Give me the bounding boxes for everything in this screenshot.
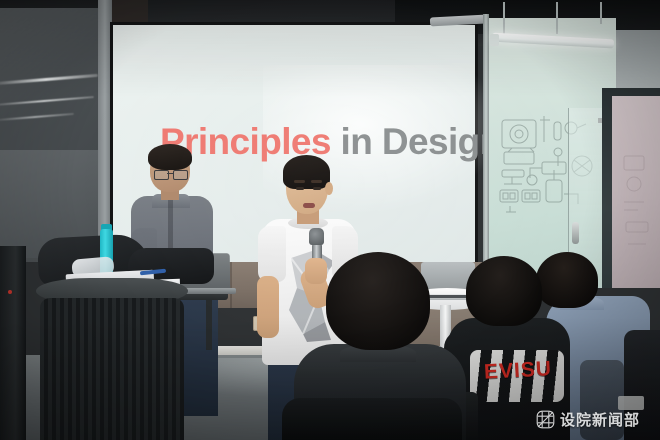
podium-leg <box>206 300 212 350</box>
microphone-head <box>309 228 324 245</box>
tube-light-end-cap <box>490 34 499 46</box>
presenter-eye <box>313 187 321 190</box>
presenter-sleeve <box>258 226 286 282</box>
left-table-body <box>40 298 184 440</box>
presenter-mouth <box>303 203 315 208</box>
chair-label-tag <box>618 396 644 410</box>
chair <box>282 398 462 440</box>
slide-title: Principles in Design <box>160 121 502 163</box>
slide-title-secondary: in Design <box>331 121 502 162</box>
power-led-icon <box>8 290 12 294</box>
presenter-hair <box>283 155 330 189</box>
presenter-eyebrow <box>294 180 305 183</box>
light-hanger-rod <box>556 2 558 34</box>
glass-wall-edge <box>483 14 489 290</box>
door-poster-sketch <box>620 150 660 260</box>
door-handle[interactable] <box>572 222 579 244</box>
presenter-ear <box>325 182 333 195</box>
watermark-text: 设院新闻部 <box>560 409 640 430</box>
audience-foreground-head <box>326 252 430 350</box>
light-hanger-rod <box>600 2 602 24</box>
presenter-eyebrow <box>311 180 322 183</box>
light-hanger-rod <box>503 2 505 36</box>
audience-evisu-head <box>466 256 542 326</box>
eyeglasses-icon <box>154 170 186 178</box>
jacket-brand-text: EVISU <box>471 356 564 387</box>
equipment-rack <box>0 246 26 440</box>
watermark: 设院新闻部 <box>536 409 640 430</box>
audience-blue-shirt-head <box>536 252 598 308</box>
presenter-eye <box>296 187 304 190</box>
presenter-arm <box>257 276 279 338</box>
wall-panel-seam <box>230 262 232 308</box>
instructor-hair <box>148 144 192 170</box>
presenter-hand-holding-microphone <box>305 258 327 284</box>
photograph-lecture-presentation: Principles in Design <box>0 0 660 440</box>
organization-logo-icon <box>536 410 555 429</box>
